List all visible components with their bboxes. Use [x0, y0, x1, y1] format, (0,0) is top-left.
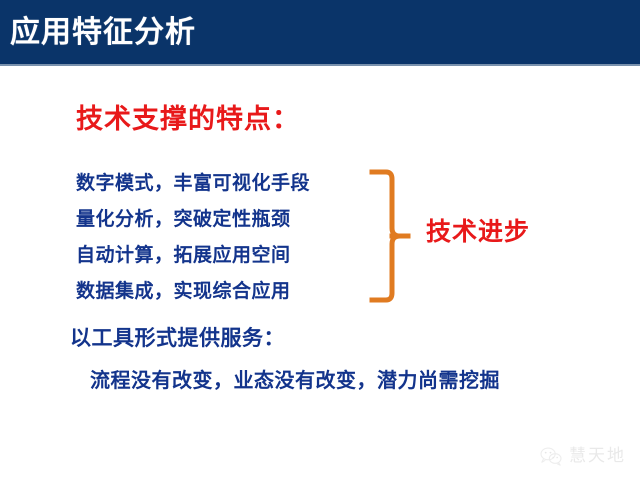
- list-item: 量化分析，突破定性瓶颈: [76, 202, 366, 238]
- brace-label: 技术进步: [426, 216, 530, 248]
- curly-brace-icon: [368, 168, 412, 304]
- slide-header-bar: 应用特征分析: [0, 0, 640, 66]
- list-item: 数字模式，丰富可视化手段: [76, 166, 366, 202]
- section-heading: 技术支撑的特点：: [76, 102, 300, 136]
- page-title: 应用特征分析: [10, 13, 196, 53]
- watermark: 慧天地: [539, 446, 626, 466]
- bullet-list: 数字模式，丰富可视化手段 量化分析，突破定性瓶颈 自动计算，拓展应用空间 数据集…: [76, 166, 366, 310]
- slide-content: 技术支撑的特点： 数字模式，丰富可视化手段 量化分析，突破定性瓶颈 自动计算，拓…: [0, 66, 640, 480]
- list-item: 数据集成，实现综合应用: [76, 274, 366, 310]
- watermark-text: 慧天地: [569, 446, 626, 466]
- slide-canvas: 应用特征分析 技术支撑的特点： 数字模式，丰富可视化手段 量化分析，突破定性瓶颈…: [0, 0, 640, 480]
- list-item: 自动计算，拓展应用空间: [76, 238, 366, 274]
- wechat-icon: [539, 446, 563, 466]
- closing-statement-primary: 以工具形式提供服务：: [70, 324, 285, 354]
- closing-statement-secondary: 流程没有改变，业态没有改变，潜力尚需挖掘: [90, 366, 500, 396]
